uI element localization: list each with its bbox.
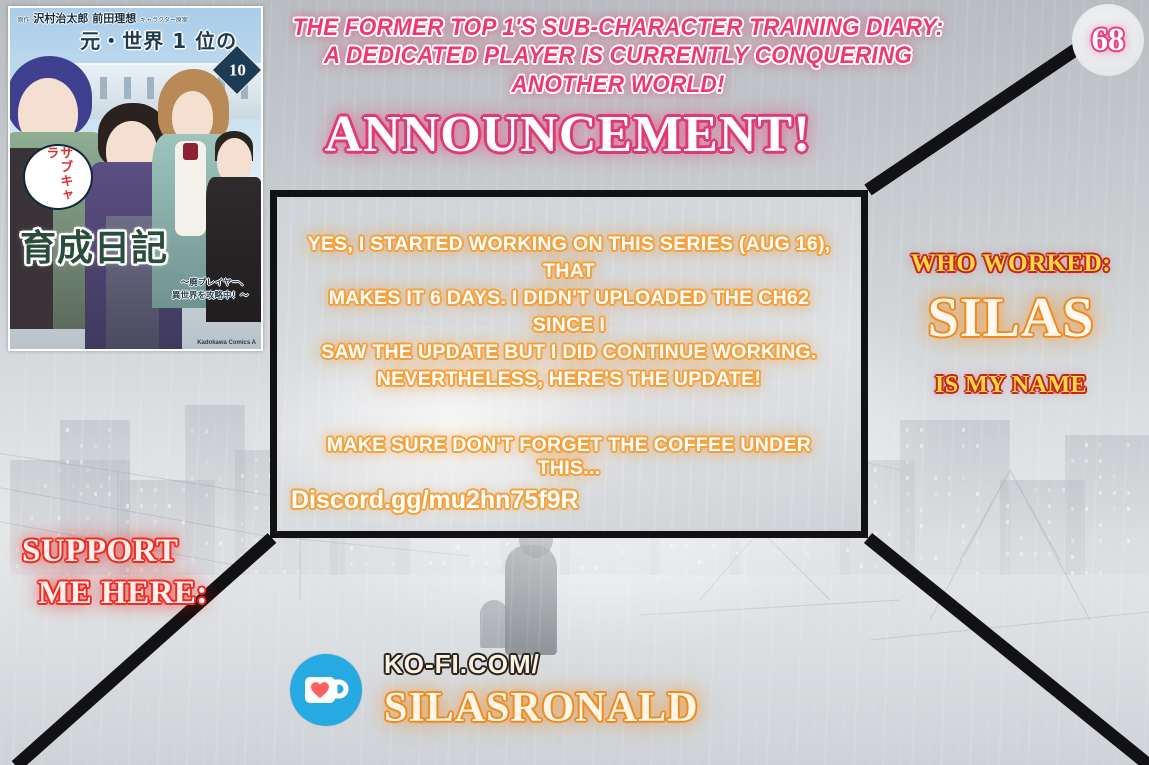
cover-subchara-bubble: サブキャラ [23,144,93,210]
cover-subtitle-line2: 異世界を攻略中！〜 [172,290,249,303]
cover-publisher: Kadokawa Comics A [197,340,256,346]
credits-subtitle: IS MY NAME [880,372,1142,399]
cover-subtitle-line1: 〜廃プレイヤー、 [172,277,249,290]
cover-authors: 原作 沢村治太郎 前田理想 キャラクター原案 [18,10,188,26]
coffee-note: MAKE SURE DON'T FORGET THE COFFEE UNDER … [301,434,837,480]
cover-author-credit-3: キャラクター原案 [140,17,188,24]
announcement-body-line3: SAW THE UPDATE BUT I DID CONTINUE WORKIN… [301,339,837,366]
kofi-cup-icon [302,670,350,710]
announcement-panel: YES, I STARTED WORKING ON THIS SERIES (A… [270,190,868,538]
cover-subtitle: 〜廃プレイヤー、 異世界を攻略中！〜 [172,277,249,303]
credits-label: WHO WORKED: [880,250,1142,278]
kofi-link-block[interactable]: KO-FI.COM/ SILASRONALD [290,630,720,750]
support-line1: SUPPORT [22,530,272,572]
cover-japanese-title: 元・世界 1 位の [80,25,237,54]
support-line2: ME HERE: [38,572,272,614]
kofi-url[interactable]: KO-FI.COM/ SILASRONALD [384,649,698,732]
announcement-heading: ANNOUNCEMENT! [268,105,868,164]
page-number: 68 [1092,22,1125,59]
announcement-body-line1: YES, I STARTED WORKING ON THIS SERIES (A… [301,231,837,285]
credits-name: SILAS [880,286,1142,350]
series-title: THE FORMER TOP 1'S SUB-CHARACTER TRAININ… [289,14,947,99]
kofi-url-domain: KO-FI.COM/ [384,649,698,680]
announcement-body: YES, I STARTED WORKING ON THIS SERIES (A… [301,231,837,392]
page-number-badge: 68 [1072,4,1144,76]
discord-invite-link[interactable]: Discord.gg/mu2hn75f9R [291,486,579,515]
kofi-cup-heart-icon[interactable] [290,654,362,726]
series-title-line1: THE FORMER TOP 1'S SUB-CHARACTER TRAININ… [289,14,947,42]
cover-main-title: 育成日記 [20,219,168,271]
cover-authors-names: 沢村治太郎 前田理想 [33,12,136,25]
credits-block: WHO WORKED: SILAS IS MY NAME [880,250,1142,399]
comic-announcement-page: 原作 沢村治太郎 前田理想 キャラクター原案 元・世界 1 位の 10 サブキャ… [0,0,1149,765]
kofi-url-handle: SILASRONALD [384,684,698,732]
cover-author-credit-1: 原作 [18,17,30,24]
announcement-body-line4: NEVERTHELESS, HERE'S THE UPDATE! [301,366,837,393]
panel-content: YES, I STARTED WORKING ON THIS SERIES (A… [277,197,861,480]
support-callout: SUPPORT ME HERE: [22,530,272,614]
series-title-line2: A DEDICATED PLAYER IS CURRENTLY CONQUERI… [289,42,947,99]
announcement-body-line2: MAKES IT 6 DAYS. I DIDN'T UPLOADED THE C… [301,285,837,339]
manga-cover-image: 原作 沢村治太郎 前田理想 キャラクター原案 元・世界 1 位の 10 サブキャ… [8,6,263,351]
cover-volume-number: 10 [229,60,246,80]
cover-bubble-text: サブキャラ [44,146,71,208]
